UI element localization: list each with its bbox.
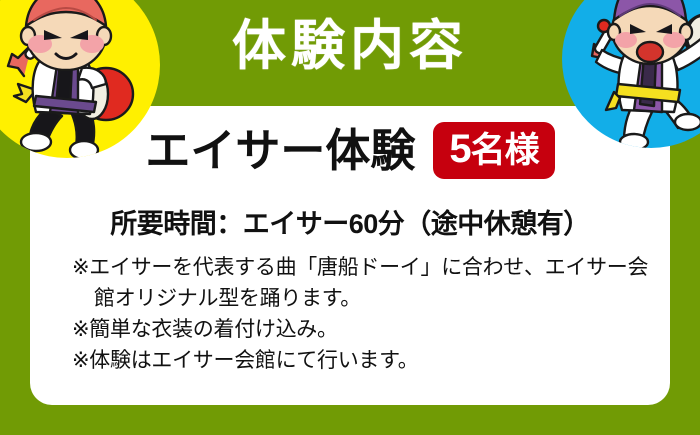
title-row: エイサー体験 5名様 <box>30 122 670 179</box>
main-content: エイサー体験 5名様 所要時間：エイサー60分（途中休憩有） ※エイサーを代表す… <box>30 106 670 406</box>
note-item: ※エイサーを代表する曲「唐船ドーイ」に合わせ、エイサー会 <box>72 252 642 283</box>
capacity-number: 5 <box>449 127 470 171</box>
note-item: ※体験はエイサー会館にて行います。 <box>72 345 642 376</box>
capacity-unit: 名様 <box>471 131 539 170</box>
notes-list: ※エイサーを代表する曲「唐船ドーイ」に合わせ、エイサー会 館オリジナル型を踊りま… <box>72 252 642 376</box>
page-title: 体験内容 <box>0 14 700 79</box>
duration-text: 所要時間：エイサー60分（途中休憩有） <box>30 202 670 241</box>
experience-title: エイサー体験 <box>145 128 415 173</box>
experience-info-card: 体験内容 <box>0 0 700 435</box>
note-item: 館オリジナル型を踊ります。 <box>72 283 642 314</box>
note-item: ※簡単な衣装の着付け込み。 <box>72 314 642 345</box>
capacity-badge: 5名様 <box>433 122 554 179</box>
